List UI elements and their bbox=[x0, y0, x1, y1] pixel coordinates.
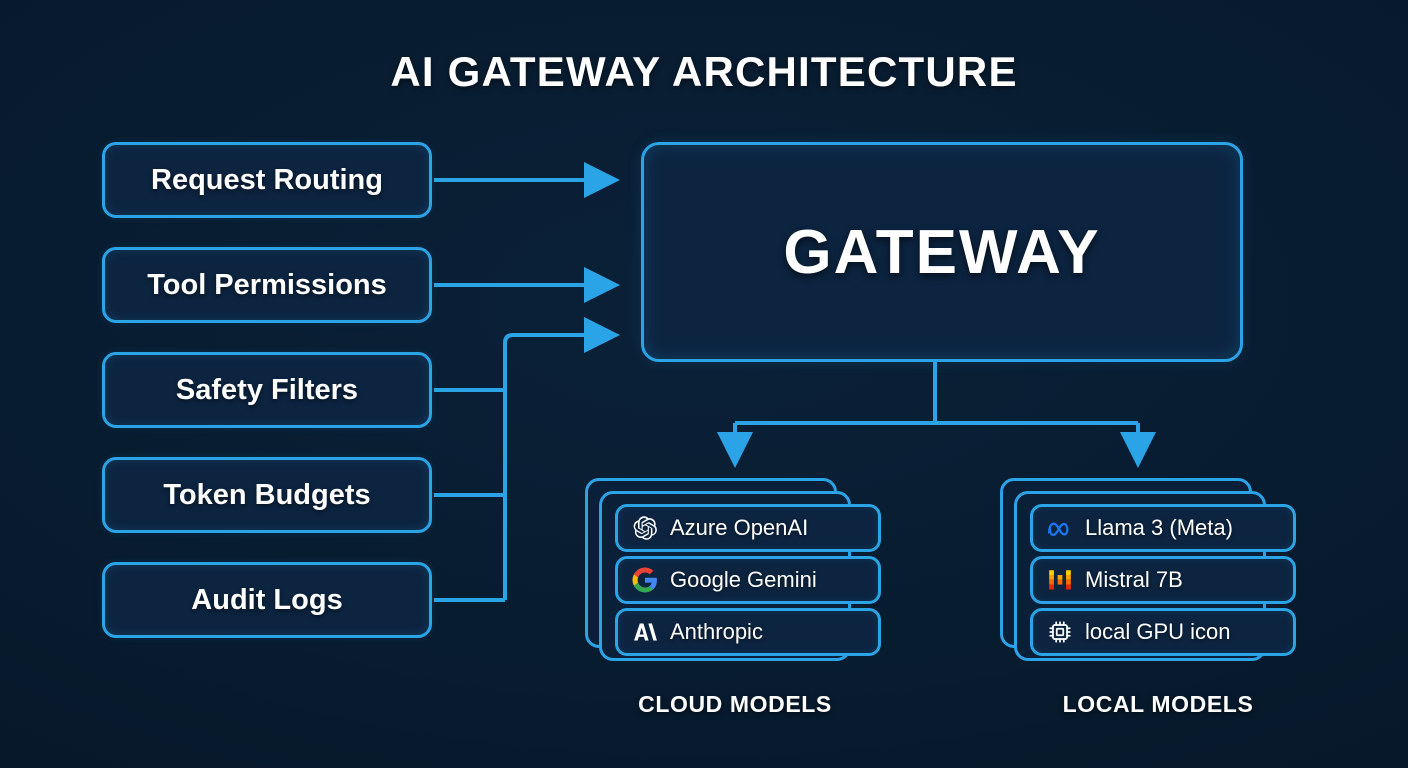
model-label: Azure OpenAI bbox=[670, 515, 808, 541]
model-label: Llama 3 (Meta) bbox=[1085, 515, 1233, 541]
openai-icon bbox=[632, 515, 658, 541]
feature-label: Audit Logs bbox=[191, 584, 342, 617]
feature-label: Token Budgets bbox=[163, 479, 370, 512]
model-row-local-gpu[interactable]: local GPU icon bbox=[1030, 608, 1296, 656]
gateway-label: GATEWAY bbox=[783, 217, 1100, 288]
model-row-azure-openai[interactable]: Azure OpenAI bbox=[615, 504, 881, 552]
google-icon bbox=[632, 567, 658, 593]
cloud-models-stack: Azure OpenAI Google Gemini Anthropic bbox=[585, 478, 885, 668]
diagram-canvas: AI GATEWAY ARCHITECTURE bbox=[0, 0, 1408, 768]
model-row-google-gemini[interactable]: Google Gemini bbox=[615, 556, 881, 604]
anthropic-icon bbox=[632, 619, 658, 645]
model-label: Google Gemini bbox=[670, 567, 817, 593]
model-label: Mistral 7B bbox=[1085, 567, 1183, 593]
model-label: local GPU icon bbox=[1085, 619, 1231, 645]
cloud-models-caption: CLOUD MODELS bbox=[585, 691, 885, 718]
gateway-box[interactable]: GATEWAY bbox=[641, 142, 1243, 362]
meta-icon bbox=[1047, 515, 1073, 541]
feature-box-safety-filters[interactable]: Safety Filters bbox=[102, 352, 432, 428]
feature-box-audit-logs[interactable]: Audit Logs bbox=[102, 562, 432, 638]
gpu-chip-icon bbox=[1047, 619, 1073, 645]
feature-box-request-routing[interactable]: Request Routing bbox=[102, 142, 432, 218]
local-models-stack: Llama 3 (Meta) Mistral 7B bbox=[1000, 478, 1300, 668]
local-models-caption: LOCAL MODELS bbox=[1008, 691, 1308, 718]
mistral-icon bbox=[1047, 567, 1073, 593]
model-row-mistral-7b[interactable]: Mistral 7B bbox=[1030, 556, 1296, 604]
model-row-anthropic[interactable]: Anthropic bbox=[615, 608, 881, 656]
feature-box-token-budgets[interactable]: Token Budgets bbox=[102, 457, 432, 533]
model-label: Anthropic bbox=[670, 619, 763, 645]
feature-label: Tool Permissions bbox=[147, 269, 387, 302]
feature-box-tool-permissions[interactable]: Tool Permissions bbox=[102, 247, 432, 323]
model-row-llama-3-meta[interactable]: Llama 3 (Meta) bbox=[1030, 504, 1296, 552]
feature-label: Request Routing bbox=[151, 164, 383, 197]
feature-label: Safety Filters bbox=[176, 374, 358, 407]
